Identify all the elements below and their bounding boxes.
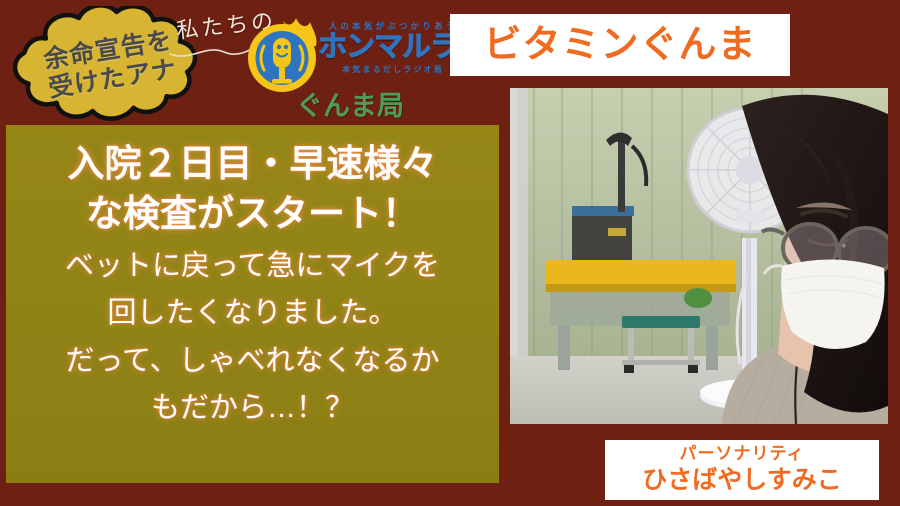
paragraph-line-3: だって、しゃべれなくなるか [6,341,499,382]
logo-name: ホンマルラジオ [318,32,468,62]
personality-role: パーソナリティ [680,445,805,464]
headline-line-1: 入院２日目・早速様々 [6,139,499,189]
episode-text-block: 入院２日目・早速様々 な検査がスタート！ ベットに戻って急にマイクを 回したくな… [6,139,499,430]
personality-caption-box: パーソナリティ ひさばやしすみこ [605,440,879,500]
hospital-room-illustration [510,88,888,424]
page-title: ビタミンぐんま [483,26,756,64]
program-title-box: ビタミンぐんま [450,14,790,76]
episode-photo [510,88,888,424]
logo-wordmark: 人の本気がぶつかりあう ホンマルラジオ 本気まるだしラジオ局 [318,20,468,75]
paragraph-line-2: 回したくなりました。 [6,293,499,334]
station-label: ぐんま局 [296,84,404,123]
paragraph-line-1: ベットに戻って急にマイクを [6,246,499,287]
headline-line-2: な検査がスタート！ [6,189,499,239]
logo-tagline-bottom: 本気まるだしラジオ局 [318,64,468,75]
radio-mic-mark-icon [244,18,320,94]
paragraph-line-4: もだから…！？ [6,388,499,429]
episode-description-panel: 入院２日目・早速様々 な検査がスタート！ ベットに戻って急にマイクを 回したくな… [6,125,499,483]
thumbnail-canvas: 余命宣告を 受けたアナ 私たちの 人の本気がぶつかりあう ホンマルラジオ 本 [0,0,900,506]
personality-name: ひさばやしすみこ [642,466,842,495]
